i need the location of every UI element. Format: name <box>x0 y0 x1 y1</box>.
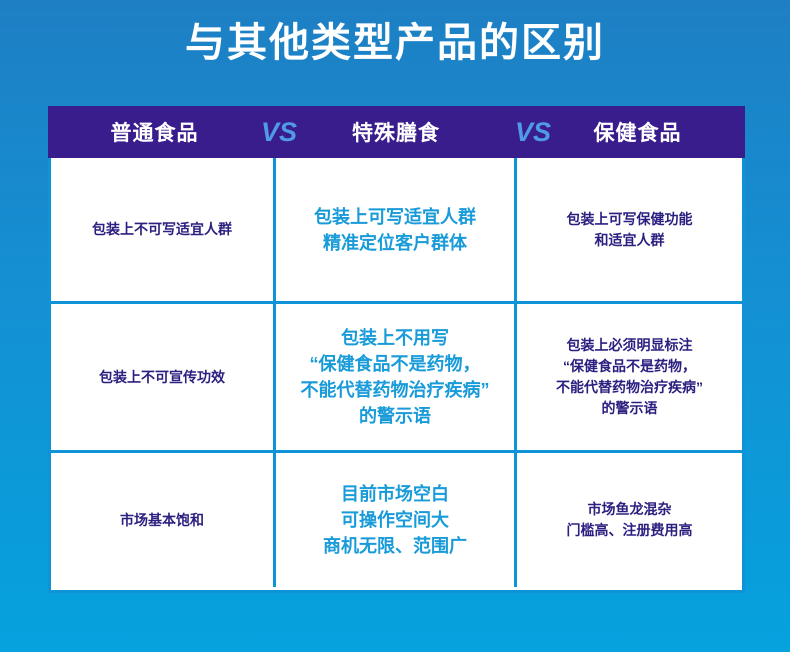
table-row: 市场基本饱和 目前市场空白 可操作空间大 商机无限、范围广 市场鱼龙混杂 门槛高… <box>51 453 742 587</box>
table-row: 包装上不可宣传功效 包装上不用写 “保健食品不是药物， 不能代替药物治疗疾病” … <box>51 304 742 453</box>
cell-health-food-row2: 包装上必须明显标注 “保健食品不是药物， 不能代替药物治疗疾病” 的警示语 <box>517 304 742 450</box>
column-header-special-diet: 特殊膳食 <box>277 117 515 147</box>
cell-special-diet-row3: 目前市场空白 可操作空间大 商机无限、范围广 <box>276 453 517 587</box>
cell-ordinary-food-row1: 包装上不可写适宜人群 <box>51 158 276 301</box>
vs-separator-1: VS <box>261 117 277 148</box>
cell-text: 目前市场空白 可操作空间大 商机无限、范围广 <box>323 481 467 559</box>
cell-text: 包装上必须明显标注 “保健食品不是药物， 不能代替药物治疗疾病” 的警示语 <box>556 335 703 419</box>
cell-text: 市场基本饱和 <box>120 510 204 531</box>
cell-health-food-row1: 包装上可写保健功能 和适宜人群 <box>517 158 742 301</box>
cell-text: 包装上不用写 “保健食品不是药物， 不能代替药物治疗疾病” 的警示语 <box>301 325 490 429</box>
cell-ordinary-food-row2: 包装上不可宣传功效 <box>51 304 276 450</box>
cell-text: 包装上可写适宜人群 精准定位客户群体 <box>314 204 476 256</box>
cell-text: 包装上不可宣传功效 <box>99 367 225 388</box>
vs-separator-2: VS <box>515 117 531 148</box>
table-header-row: 普通食品 VS 特殊膳食 VS 保健食品 <box>48 106 745 158</box>
cell-text: 包装上可写保健功能 和适宜人群 <box>567 209 693 251</box>
cell-text: 包装上不可写适宜人群 <box>92 219 232 240</box>
cell-ordinary-food-row3: 市场基本饱和 <box>51 453 276 587</box>
column-header-ordinary-food: 普通食品 <box>48 117 261 147</box>
table-body: 包装上不可写适宜人群 包装上可写适宜人群 精准定位客户群体 包装上可写保健功能 … <box>48 158 745 593</box>
cell-health-food-row3: 市场鱼龙混杂 门槛高、注册费用高 <box>517 453 742 587</box>
cell-special-diet-row2: 包装上不用写 “保健食品不是药物， 不能代替药物治疗疾病” 的警示语 <box>276 304 517 450</box>
column-header-health-food: 保健食品 <box>531 117 744 147</box>
comparison-table: 普通食品 VS 特殊膳食 VS 保健食品 包装上不可写适宜人群 包装上可写适宜人… <box>48 106 745 593</box>
page-root: 与其他类型产品的区别 普通食品 VS 特殊膳食 VS 保健食品 包装上不可写适宜… <box>0 0 790 652</box>
table-row: 包装上不可写适宜人群 包装上可写适宜人群 精准定位客户群体 包装上可写保健功能 … <box>51 158 742 304</box>
cell-text: 市场鱼龙混杂 门槛高、注册费用高 <box>567 499 693 541</box>
cell-special-diet-row1: 包装上可写适宜人群 精准定位客户群体 <box>276 158 517 301</box>
page-title: 与其他类型产品的区别 <box>0 16 790 70</box>
